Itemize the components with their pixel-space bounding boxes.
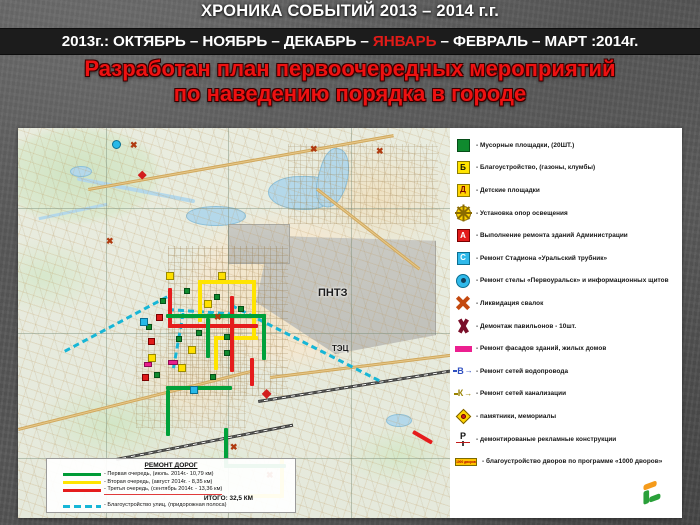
timeline-suffix: :2014г.	[591, 33, 638, 50]
legend-glyph-v: В	[457, 367, 464, 376]
legend-item-facade-repair[interactable]: - Ремонт фасадов зданий, жилых домов	[454, 337, 680, 360]
map-marker-waste	[154, 372, 160, 378]
timeline-sep-2: –	[360, 33, 368, 50]
map-route-yellow	[214, 336, 218, 370]
map-water-small	[70, 166, 92, 177]
road-swatch-dashed-icon	[63, 505, 101, 508]
legend-item-monuments[interactable]: - памятники, мемориалы	[454, 405, 680, 428]
legend-label-playgrounds: - Детские площадки	[476, 187, 540, 194]
map-gridline	[351, 128, 352, 518]
map-marker-landscaping	[188, 346, 196, 354]
map-marker-landscaping	[178, 364, 186, 372]
road-repair-row-2: - Вторая очередь, (август 2014г. - 8,35 …	[51, 479, 291, 487]
map-marker-waste	[176, 336, 182, 342]
timeline-text: 2013г.: ОКТЯБРЬ – НОЯБРЬ – ДЕКАБРЬ – ЯНВ…	[62, 33, 639, 50]
timeline-prefix: 2013г.:	[62, 33, 109, 50]
legend-label-pavilion-demolition: - Демонтаж павильонов - 10шт.	[476, 323, 576, 330]
timeline-month-5: МАРТ	[545, 33, 587, 50]
road-repair-extra-text: - Благоустройство улиц, (придорожная пол…	[104, 502, 227, 510]
legend-label-waste-sites: - Мусорные площадки, (20ШТ.)	[476, 142, 574, 149]
legend-item-admin-buildings[interactable]: А - Выполнение ремонта зданий Администра…	[454, 224, 680, 247]
city-map[interactable]: ✖ ◆ ✖ ✖ ✖ ✖ ◆ ✖ ✖	[18, 128, 450, 518]
sun-lamp-icon	[454, 204, 472, 222]
map-marker-stadium	[140, 318, 148, 326]
red-a-square-icon: А	[454, 227, 472, 245]
legend-item-water-pipes[interactable]: В→ - Ремонт сетей водопровода	[454, 360, 680, 383]
map-route-red	[412, 430, 433, 444]
legend-item-dump-removal[interactable]: - Ликвидация свалок	[454, 292, 680, 315]
legend-label-water-pipes: - Ремонт сетей водопровода	[476, 368, 568, 375]
road-swatch-yellow-icon	[63, 481, 101, 484]
map-water-pond-2	[186, 206, 246, 226]
map-marker-dump: ✖	[130, 142, 136, 148]
road-repair-title: РЕМОНТ ДОРОГ	[51, 462, 291, 470]
map-water-3	[386, 414, 412, 427]
ad-sign-icon: Р	[454, 430, 472, 448]
orange-x-icon	[454, 294, 472, 312]
timeline-month-4: ФЕВРАЛЬ	[453, 33, 528, 50]
map-marker-facade	[144, 362, 152, 367]
legend-item-waste-sites[interactable]: - Мусорные площадки, (20ШТ.)	[454, 134, 680, 157]
road-repair-legend: РЕМОНТ ДОРОГ - Первая очередь, (июль. 20…	[46, 458, 296, 513]
map-marker-dump: ✖	[214, 314, 220, 320]
legend-label-monuments: - памятники, мемориалы	[476, 413, 556, 420]
map-label-pntz: ПНТЗ	[318, 287, 347, 299]
road-swatch-red-icon	[63, 489, 101, 492]
legend-item-sewer-pipes[interactable]: К→ - Ремонт сетей канализации	[454, 383, 680, 406]
legend-item-yard-program[interactable]: 1000 дворов - благоустройство дворов по …	[454, 450, 680, 473]
map-marker-monument: ◆	[138, 172, 144, 178]
yellow-d-square-icon: Д	[454, 181, 472, 199]
map-route-red	[250, 358, 254, 386]
map-marker-waste	[238, 306, 244, 312]
map-marker-waste	[224, 334, 230, 340]
map-label-tec: ТЭЦ	[332, 344, 348, 353]
map-marker-waste	[224, 350, 230, 356]
map-gridline	[18, 333, 450, 334]
city-program-emblem	[632, 476, 670, 510]
map-marker-stele	[112, 140, 121, 149]
legend-label-stele: - Ремонт стелы «Первоуральск» и информац…	[476, 277, 669, 284]
map-route-yellow	[252, 280, 256, 340]
legend-label-landscaping: - Благоустройство, (газоны, клумбы)	[476, 164, 595, 171]
legend-item-stadium[interactable]: С - Ремонт Стадиона «Уральский трубник»	[454, 247, 680, 270]
legend-item-ad-structures[interactable]: Р - демонтированые рекламные конструкции	[454, 428, 680, 451]
legend-label-stadium: - Ремонт Стадиона «Уральский трубник»	[476, 255, 607, 262]
green-square-icon	[454, 136, 472, 154]
legend-glyph-yard: 1000 дворов	[455, 458, 477, 466]
legend-glyph-b: Б	[457, 161, 470, 174]
map-marker-dump: ✖	[106, 238, 112, 244]
timeline-sep-1: –	[271, 33, 279, 50]
content-panel: ✖ ◆ ✖ ✖ ✖ ✖ ◆ ✖ ✖	[18, 128, 682, 518]
headline-line-2: по наведению порядка в городе	[0, 81, 700, 106]
timeline-sep-0: –	[190, 33, 198, 50]
headline: Разработан план первоочередных мероприят…	[0, 56, 700, 106]
page-title: ХРОНИКА СОБЫТИЙ 2013 – 2014 г.г.	[0, 2, 700, 21]
map-marker-dump: ✖	[376, 148, 382, 154]
water-pipe-icon: В→	[454, 362, 472, 380]
road-repair-row-1: - Первая очередь, (июль. 2014г.- 10,79 к…	[51, 471, 291, 479]
map-marker-waste	[210, 374, 216, 380]
map-route-green	[262, 314, 266, 360]
road-repair-row-extra: - Благоустройство улиц, (придорожная пол…	[51, 502, 291, 510]
legend-label-sewer-pipes: - Ремонт сетей канализации	[476, 390, 566, 397]
legend-item-playgrounds[interactable]: Д - Детские площадки	[454, 179, 680, 202]
map-marker-admin	[148, 338, 155, 345]
map-route-green	[206, 318, 210, 358]
yellow-b-square-icon: Б	[454, 159, 472, 177]
slide-canvas: ХРОНИКА СОБЫТИЙ 2013 – 2014 г.г. 2013г.:…	[0, 0, 700, 525]
map-route-green	[166, 386, 232, 390]
map-marker-facade	[168, 360, 178, 365]
map-marker-waste	[184, 288, 190, 294]
map-legend-panel: - Мусорные площадки, (20ШТ.) Б - Благоус…	[450, 128, 682, 518]
map-marker-landscaping	[204, 300, 212, 308]
map-marker-stadium	[190, 386, 198, 394]
sewer-pipe-icon: К→	[454, 385, 472, 403]
timeline-month-0: ОКТЯБРЬ	[113, 33, 186, 50]
legend-glyph-d: Д	[457, 184, 470, 197]
map-marker-waste	[196, 330, 202, 336]
legend-label-yard-program: - благоустройство дворов по программе «1…	[482, 458, 662, 465]
map-route-red	[168, 288, 172, 328]
map-marker-waste	[160, 298, 166, 304]
map-route-yellow	[198, 280, 256, 284]
cyan-c-square-icon: С	[454, 249, 472, 267]
legend-item-landscaping[interactable]: Б - Благоустройство, (газоны, клумбы)	[454, 157, 680, 180]
pink-bar-icon	[454, 340, 472, 358]
legend-glyph-c: С	[457, 252, 470, 265]
legend-label-dump-removal: - Ликвидация свалок	[476, 300, 543, 307]
legend-label-facade-repair: - Ремонт фасадов зданий, жилых домов	[476, 345, 606, 352]
map-route-red	[230, 296, 234, 372]
timeline-month-1: НОЯБРЬ	[202, 33, 267, 50]
road-swatch-green-icon	[63, 473, 101, 476]
map-route-green	[166, 390, 170, 436]
legend-label-ad-structures: - демонтированые рекламные конструкции	[476, 436, 616, 443]
road-repair-stage-1-text: - Первая очередь, (июль. 2014г.- 10,79 к…	[104, 471, 214, 479]
map-river-2	[38, 203, 107, 220]
legend-glyph-r: Р	[460, 432, 466, 441]
timeline-month-3-highlighted: ЯНВАРЬ	[373, 33, 437, 50]
monument-icon	[454, 407, 472, 425]
map-marker-landscaping	[148, 354, 156, 362]
map-marker-monument: ◆	[262, 390, 268, 396]
map-marker-waste	[214, 294, 220, 300]
map-route-yellow	[214, 336, 258, 340]
blue-circle-icon	[454, 272, 472, 290]
legend-glyph-k: К	[458, 389, 464, 398]
map-marker-admin	[142, 374, 149, 381]
legend-label-street-lighting: - Установка опор освещения	[476, 210, 568, 217]
timeline-sep-4: –	[532, 33, 540, 50]
road-repair-stage-3-text: - Третья очередь, (сентябрь 2014г. - 13,…	[104, 486, 222, 495]
legend-item-stele[interactable]: - Ремонт стелы «Первоуральск» и информац…	[454, 270, 680, 293]
map-marker-admin	[156, 314, 163, 321]
map-gridline	[18, 208, 450, 209]
timeline-sep-3: –	[441, 33, 449, 50]
legend-label-admin-buildings: - Выполнение ремонта зданий Администраци…	[476, 232, 628, 239]
map-route-red	[168, 324, 258, 328]
map-marker-dump: ✖	[310, 146, 316, 152]
map-urban-blocks-2	[288, 144, 438, 224]
legend-glyph-a: А	[457, 229, 470, 242]
yard-chip-icon: 1000 дворов	[454, 453, 478, 471]
headline-line-1: Разработан план первоочередных мероприят…	[84, 56, 615, 81]
timeline-month-2: ДЕКАБРЬ	[284, 33, 356, 50]
timeline-band: 2013г.: ОКТЯБРЬ – НОЯБРЬ – ДЕКАБРЬ – ЯНВ…	[0, 28, 700, 55]
map-marker-landscaping	[166, 272, 174, 280]
road-repair-stage-2-text: - Вторая очередь, (август 2014г. - 8,35 …	[104, 479, 212, 487]
map-marker-landscaping	[218, 272, 226, 280]
legend-item-street-lighting[interactable]: - Установка опор освещения	[454, 202, 680, 225]
map-railway	[116, 424, 293, 461]
maroon-x-icon	[454, 317, 472, 335]
legend-item-pavilion-demolition[interactable]: - Демонтаж павильонов - 10шт.	[454, 315, 680, 338]
map-marker-dump: ✖	[230, 444, 236, 450]
road-repair-row-3: - Третья очередь, (сентябрь 2014г. - 13,…	[51, 486, 291, 495]
